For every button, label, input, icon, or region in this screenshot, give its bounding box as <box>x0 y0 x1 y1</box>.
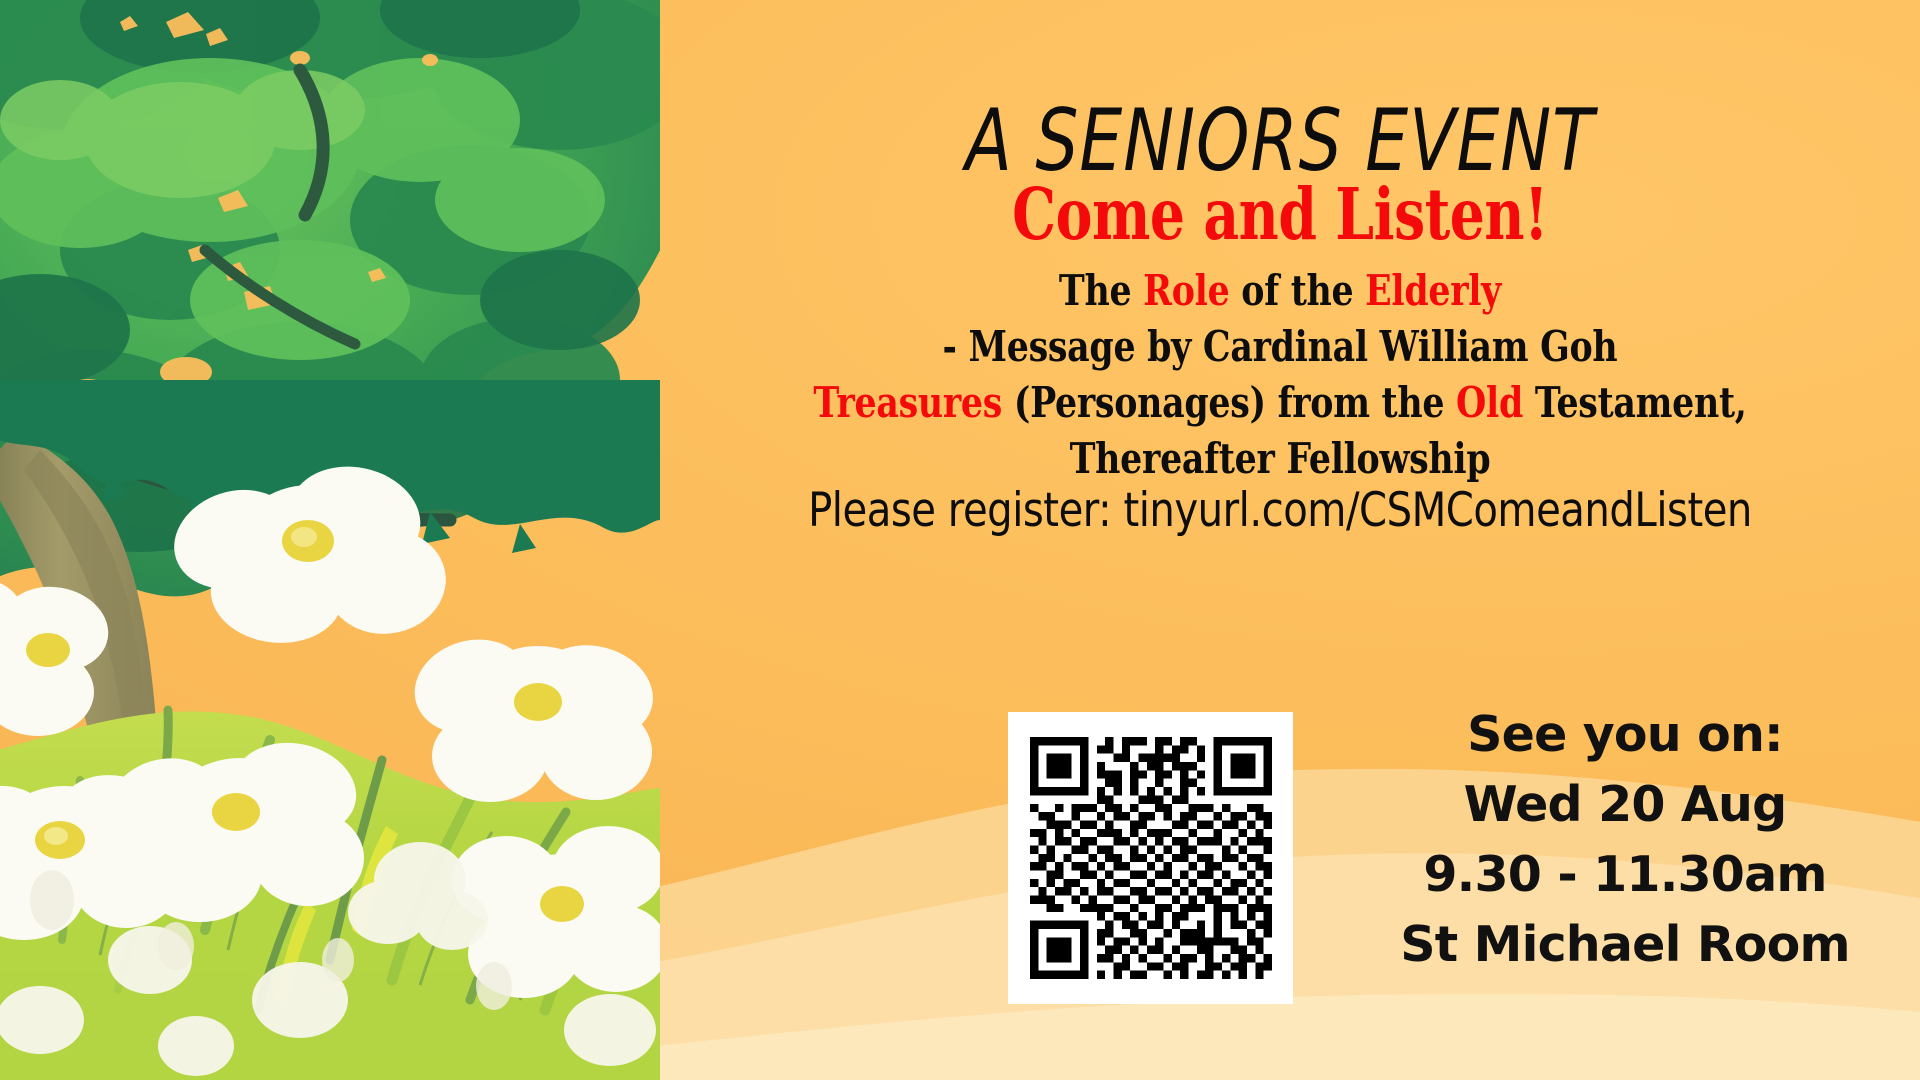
text-personages: (Personages) from the <box>1002 377 1456 427</box>
body-text-block: The Role of the Elderly - Message by Car… <box>640 262 1920 486</box>
body-line-treasures: Treasures (Personages) from the Old Test… <box>678 370 1881 434</box>
detail-time: 9.30 - 11.30am <box>1330 840 1920 910</box>
eyebrow-title: A SENIORS EVENT <box>659 98 1901 183</box>
text-fellowship: Thereafter Fellowship <box>1070 433 1491 483</box>
event-details-block: See you on: Wed 20 Aug 9.30 - 11.30am St… <box>1330 700 1920 980</box>
detail-see-you-on: See you on: <box>1330 700 1920 770</box>
text-the: The <box>1059 265 1143 315</box>
text-role: Role <box>1143 265 1229 315</box>
text-of-the: of the <box>1229 265 1365 315</box>
illustration-tree-and-daisies <box>0 0 660 1080</box>
qr-code <box>1030 734 1272 982</box>
detail-venue: St Michael Room <box>1330 910 1920 980</box>
body-line-role: The Role of the Elderly <box>678 258 1881 322</box>
poster-canvas: A SENIORS EVENT Come and Listen! The Rol… <box>0 0 1920 1080</box>
text-old: Old <box>1456 377 1523 427</box>
text-speaker: - Message by Cardinal William Goh <box>943 321 1618 371</box>
registration-link[interactable]: Please register: tinyurl.com/CSMComeandL… <box>653 481 1907 539</box>
detail-date: Wed 20 Aug <box>1330 770 1920 840</box>
text-testament: Testament, <box>1523 377 1747 427</box>
qr-code-panel[interactable] <box>1008 712 1293 1004</box>
text-elderly: Elderly <box>1365 265 1501 315</box>
body-line-speaker: - Message by Cardinal William Goh <box>678 314 1881 378</box>
text-treasures: Treasures <box>813 377 1002 427</box>
page-title: Come and Listen! <box>691 180 1869 251</box>
